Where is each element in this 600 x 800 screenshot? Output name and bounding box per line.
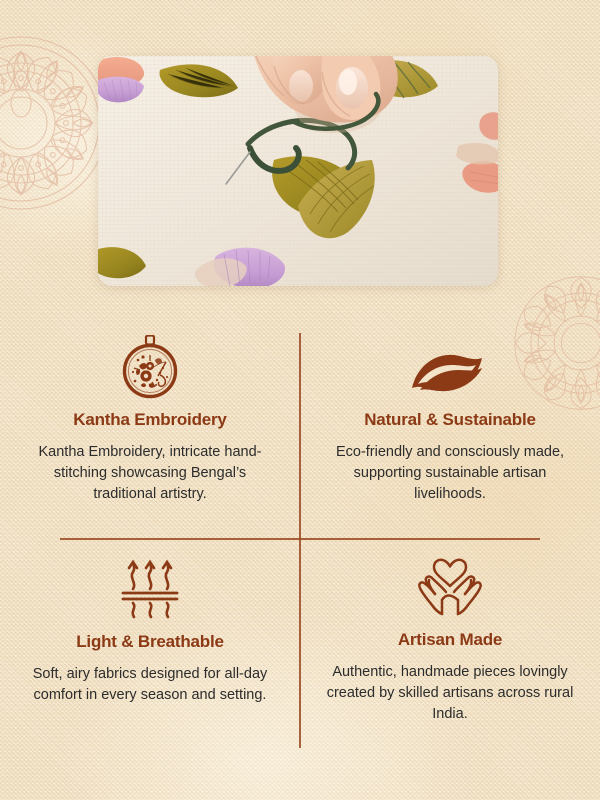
feature-card-natural-sustainable: Natural & Sustainable Eco-friendly and c… xyxy=(300,320,600,535)
embroidery-hoop-icon xyxy=(119,334,181,400)
feature-description: Kantha Embroidery, intricate hand-stitch… xyxy=(24,442,276,505)
feature-card-light-breathable: Light & Breathable Soft, airy fabrics de… xyxy=(0,540,300,755)
feature-description: Authentic, handmade pieces lovingly crea… xyxy=(326,662,574,725)
feature-title: Light & Breathable xyxy=(76,632,224,652)
feature-grid: Kantha Embroidery Kantha Embroidery, int… xyxy=(0,320,600,750)
breathable-airflow-icon xyxy=(121,556,179,622)
feature-description: Soft, airy fabrics designed for all-day … xyxy=(24,664,276,706)
feature-title: Artisan Made xyxy=(398,630,502,650)
leaf-icon xyxy=(410,342,490,400)
embroidery-hero-image xyxy=(98,56,498,286)
feature-description: Eco-friendly and consciously made, suppo… xyxy=(324,442,576,505)
feature-title: Kantha Embroidery xyxy=(73,410,226,430)
feature-card-kantha-embroidery: Kantha Embroidery Kantha Embroidery, int… xyxy=(0,320,300,535)
hands-heart-icon xyxy=(416,554,484,620)
feature-highlights-page: Kantha Embroidery Kantha Embroidery, int… xyxy=(0,0,600,800)
feature-title: Natural & Sustainable xyxy=(364,410,536,430)
feature-card-artisan-made: Artisan Made Authentic, handmade pieces … xyxy=(300,540,600,755)
